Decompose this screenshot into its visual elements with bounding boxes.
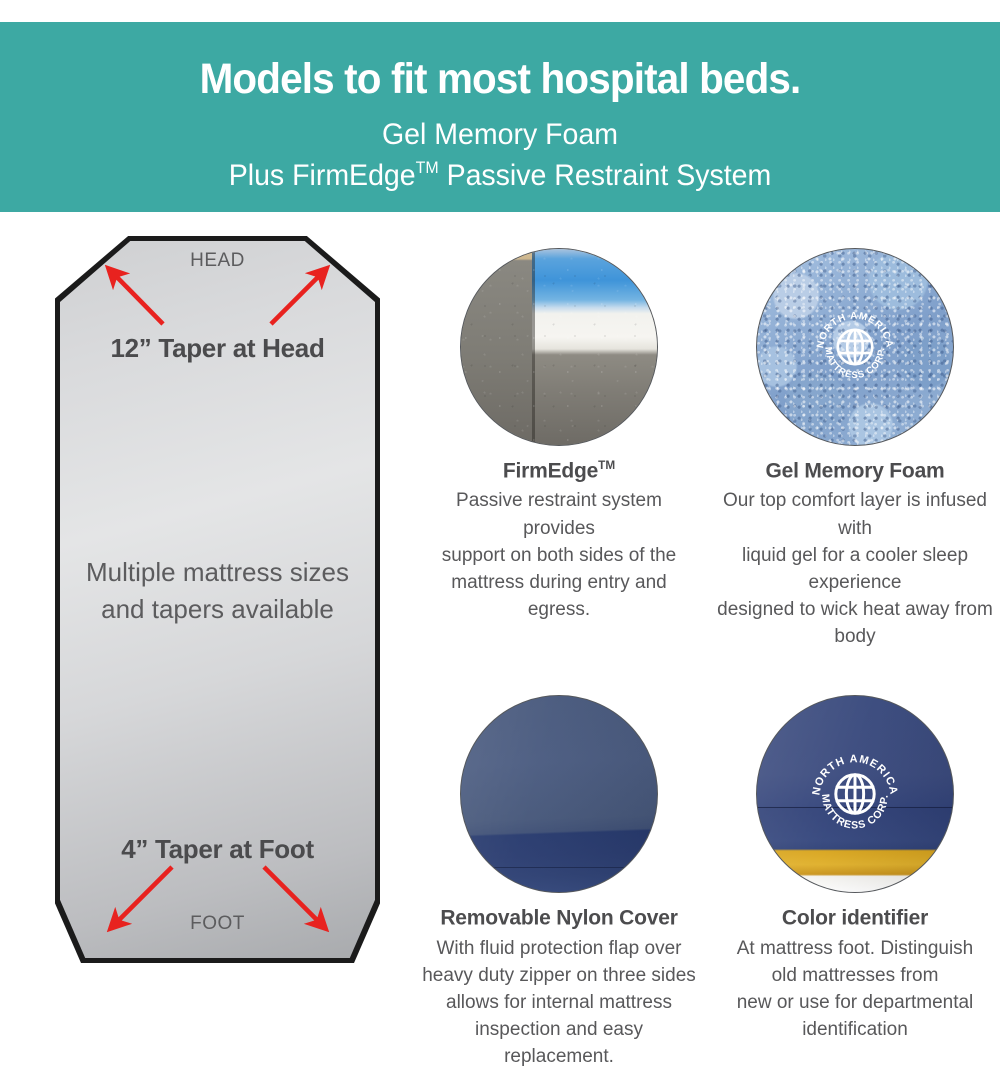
feature-title-gel-memory-foam: Gel Memory Foam: [714, 459, 996, 483]
feature-body-gel-memory-foam: Our top comfort layer is infused with li…: [714, 487, 996, 650]
globe-icon: NORTH AMERICA MATTRESS CORP.: [807, 746, 903, 842]
north-america-mattress-corp-logo: NORTH AMERICA MATTRESS CORP.: [807, 746, 903, 842]
north-america-mattress-corp-logo: NORTH AMERICA MATTRESS CORP.: [812, 304, 898, 390]
mattress-sizes-note-line2: and tapers available: [55, 591, 380, 628]
header-banner: Models to fit most hospital beds. Gel Me…: [0, 22, 1000, 212]
foam-grain-texture: [461, 249, 657, 445]
feature-title-color-identifier: Color identifier: [714, 906, 996, 930]
feature-body-removable-nylon-cover: With fluid protection flap over heavy du…: [418, 935, 700, 1071]
feature-title-firmedge: FirmEdgeTM: [418, 459, 700, 483]
removable-nylon-cover-photo: [460, 695, 658, 893]
feature-grid: FirmEdgeTM Passive restraint system prov…: [418, 248, 996, 1071]
taper-head-label: 12” Taper at Head: [55, 333, 380, 364]
header-subtitle-line2: Plus FirmEdgeTM Passive Restraint System: [25, 157, 975, 195]
feature-body-firmedge: Passive restraint system provides suppor…: [418, 487, 700, 623]
fabric-sheen: [461, 696, 657, 892]
page-title: Models to fit most hospital beds.: [30, 56, 970, 102]
header-subtitle-line1: Gel Memory Foam: [25, 116, 975, 154]
firmedge-foam-cross-section-photo: [460, 248, 658, 446]
color-identifier-photo: NORTH AMERICA MATTRESS CORP.: [756, 695, 954, 893]
feature-body-color-identifier: At mattress foot. Distinguish old mattre…: [714, 935, 996, 1044]
header-subtitle-line2-after: Passive Restraint System: [439, 159, 772, 192]
foot-label: FOOT: [55, 913, 380, 935]
feature-card-removable-nylon-cover: Removable Nylon Cover With fluid protect…: [418, 695, 700, 1070]
feature-title-removable-nylon-cover: Removable Nylon Cover: [418, 906, 700, 930]
feature-row-top: FirmEdgeTM Passive restraint system prov…: [418, 248, 996, 650]
mattress-sizes-note-line1: Multiple mattress sizes: [55, 554, 380, 591]
gel-memory-foam-photo: NORTH AMERICA MATTRESS CORP.: [756, 248, 954, 446]
feature-row-bottom: Removable Nylon Cover With fluid protect…: [418, 695, 996, 1070]
trademark-icon: TM: [598, 459, 615, 472]
cover-seam-line: [461, 867, 657, 868]
mattress-diagram: HEAD FOOT 12” Taper at Head 4” Taper at …: [55, 236, 380, 963]
globe-icon: NORTH AMERICA MATTRESS CORP.: [812, 304, 898, 390]
mattress-sizes-note: Multiple mattress sizes and tapers avail…: [55, 554, 380, 628]
feature-card-firmedge: FirmEdgeTM Passive restraint system prov…: [418, 248, 700, 650]
taper-foot-label: 4” Taper at Foot: [55, 834, 380, 865]
trademark-icon: TM: [416, 158, 439, 177]
header-subtitle-line2-before: Plus FirmEdge: [229, 159, 416, 192]
head-label: HEAD: [55, 250, 380, 272]
feature-card-gel-memory-foam: NORTH AMERICA MATTRESS CORP. Gel Memory …: [714, 248, 996, 650]
feature-card-color-identifier: NORTH AMERICA MATTRESS CORP. Color ident…: [714, 695, 996, 1070]
